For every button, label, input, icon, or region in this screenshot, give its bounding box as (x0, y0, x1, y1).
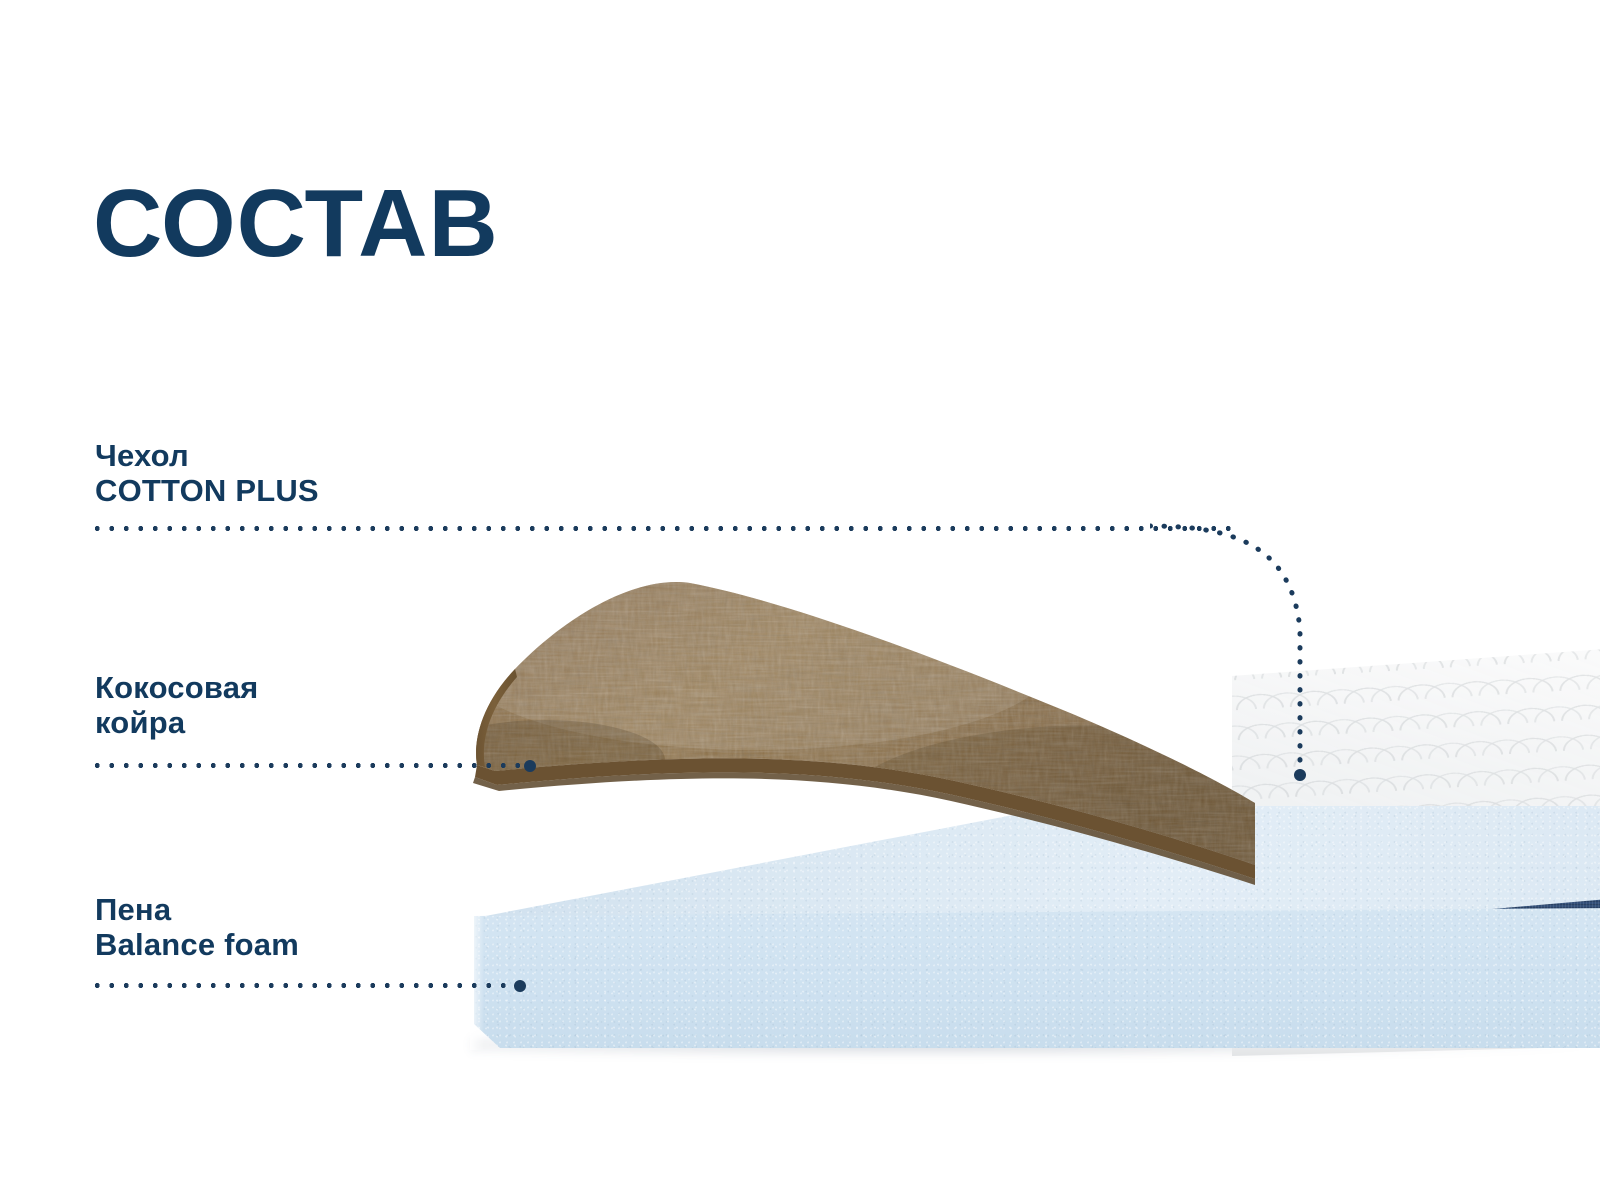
leader-line-cover-curve (1150, 470, 1390, 800)
leader-endpoint-foam (514, 980, 526, 992)
foam-left-highlight (470, 900, 484, 1050)
callout-foam-line2: Balance foam (95, 927, 299, 962)
leader-dots-cover (90, 526, 1240, 531)
layer-foam-front-face (460, 908, 1600, 1058)
leader-dots-foam (90, 983, 520, 988)
leader-endpoint-cover (1294, 769, 1306, 781)
callout-foam-line1: Пена (95, 892, 299, 927)
leader-line-coir (90, 763, 530, 768)
callout-coir-line1: Кокосовая (95, 670, 258, 705)
callout-foam: Пена Balance foam (95, 892, 299, 962)
leader-line-foam (90, 983, 520, 988)
slide-canvas: СОСТАВ DIMAX ТВОИ ИДЕАЛЬНЫЙ СОН (0, 0, 1600, 1201)
callout-cover-line1: Чехол (95, 438, 319, 473)
leader-endpoint-coir (524, 760, 536, 772)
foam-grain-front (460, 908, 1600, 1058)
callout-cover-line2: COTTON PLUS (95, 473, 319, 508)
leader-line-cover-horizontal (90, 526, 1240, 531)
callout-coir: Кокосовая койра (95, 670, 258, 740)
callout-coir-line2: койра (95, 705, 258, 740)
callout-cover: Чехол COTTON PLUS (95, 438, 319, 508)
leader-dots-coir (90, 763, 530, 768)
layer-coconut-coir (455, 565, 1255, 920)
